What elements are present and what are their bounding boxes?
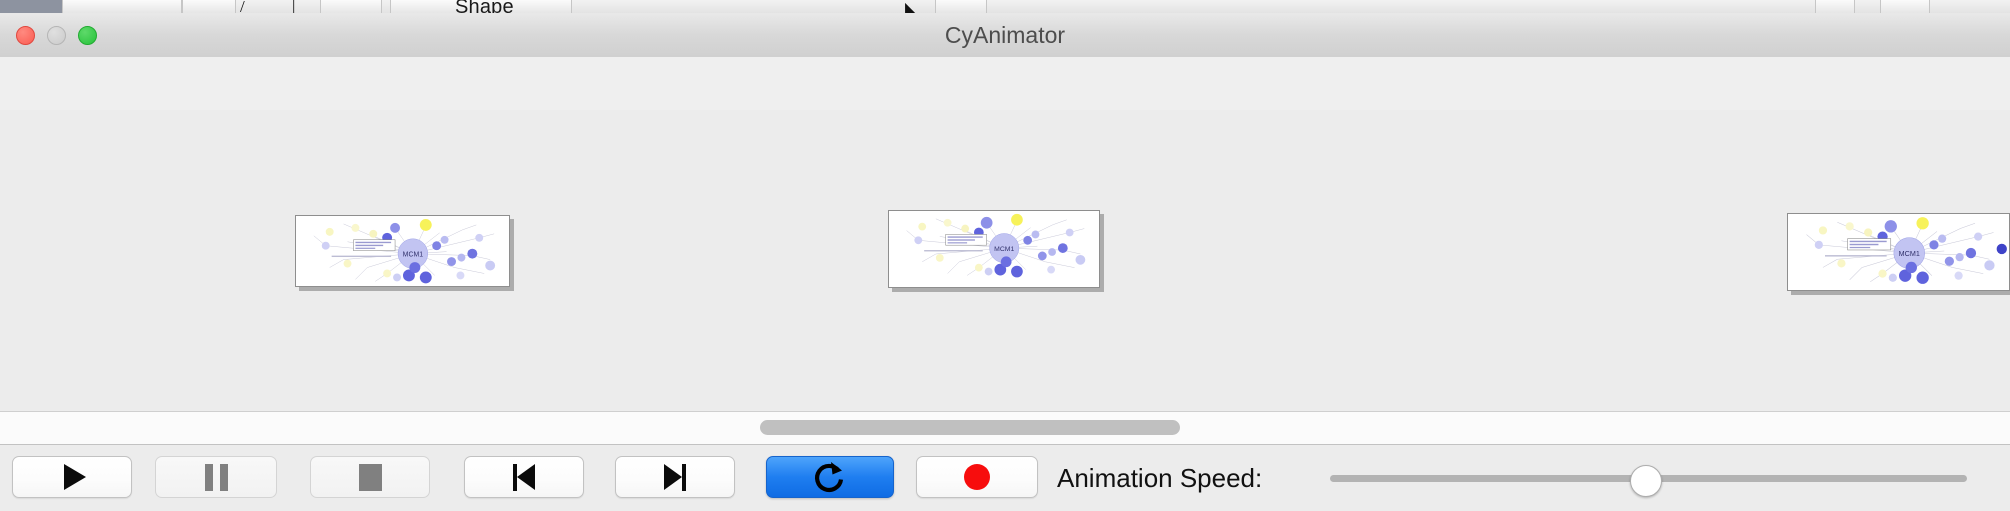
skip-to-end-button[interactable]	[615, 456, 735, 498]
play-icon	[64, 464, 86, 490]
stop-button[interactable]	[310, 456, 430, 498]
background-toolbar-chip-1	[62, 0, 182, 13]
svg-text:MCM1: MCM1	[1899, 249, 1920, 258]
timeline-frame-thumbnail[interactable]: MCM1	[295, 215, 510, 287]
background-window-titlebar-chip	[0, 0, 62, 13]
background-toolbar-chip-7	[1880, 0, 1930, 13]
timeline-frame-thumbnail[interactable]: MCM1	[1787, 213, 2010, 291]
loop-button[interactable]	[766, 456, 894, 498]
animation-speed-label: Animation Speed:	[1057, 445, 1262, 511]
skip-start-icon	[513, 464, 535, 491]
pause-icon	[205, 464, 228, 491]
cyanimator-window: / | Shape ◣ CyAnimator ✚ Clear	[0, 0, 2010, 510]
stop-icon	[359, 464, 382, 491]
background-toolbar-chip-6	[1815, 0, 1855, 13]
frames-toolbar: ✚ Clear All Frames	[0, 57, 2010, 111]
title-bar: CyAnimator	[0, 13, 2010, 58]
timeline-panel[interactable]: MCM1	[0, 110, 2010, 410]
timeline-frame-thumbnail[interactable]: MCM1	[888, 210, 1100, 288]
skip-to-start-button[interactable]	[464, 456, 584, 498]
window-title: CyAnimator	[0, 13, 2010, 57]
skip-end-icon	[664, 464, 686, 491]
scrollbar-thumb[interactable]	[760, 420, 1180, 435]
background-glyph-2: |	[292, 0, 295, 14]
svg-text:MCM1: MCM1	[994, 246, 1014, 253]
network-thumbnail-graphic: MCM1	[1788, 214, 2009, 288]
timeline-horizontal-scrollbar[interactable]	[0, 411, 2010, 445]
record-button[interactable]	[916, 456, 1038, 498]
background-shape-label: Shape	[455, 0, 514, 14]
network-thumbnail-graphic: MCM1	[296, 216, 509, 287]
background-toolbar-chip-3	[320, 0, 382, 13]
record-icon	[964, 464, 990, 490]
background-glyph-1: /	[240, 0, 245, 14]
network-thumbnail-graphic: MCM1	[889, 211, 1099, 281]
background-glyph-3: ◣	[905, 0, 922, 14]
pause-button[interactable]	[155, 456, 277, 498]
background-toolbar-chip-2	[182, 0, 236, 13]
playback-toolbar: Animation Speed:	[0, 444, 2010, 511]
loop-icon	[812, 460, 848, 494]
svg-text:MCM1: MCM1	[403, 252, 424, 259]
background-window-sliver: / | Shape ◣	[0, 0, 2010, 14]
play-button[interactable]	[12, 456, 132, 498]
animation-speed-slider-thumb[interactable]	[1630, 465, 1662, 497]
background-toolbar-chip-5	[935, 0, 987, 13]
